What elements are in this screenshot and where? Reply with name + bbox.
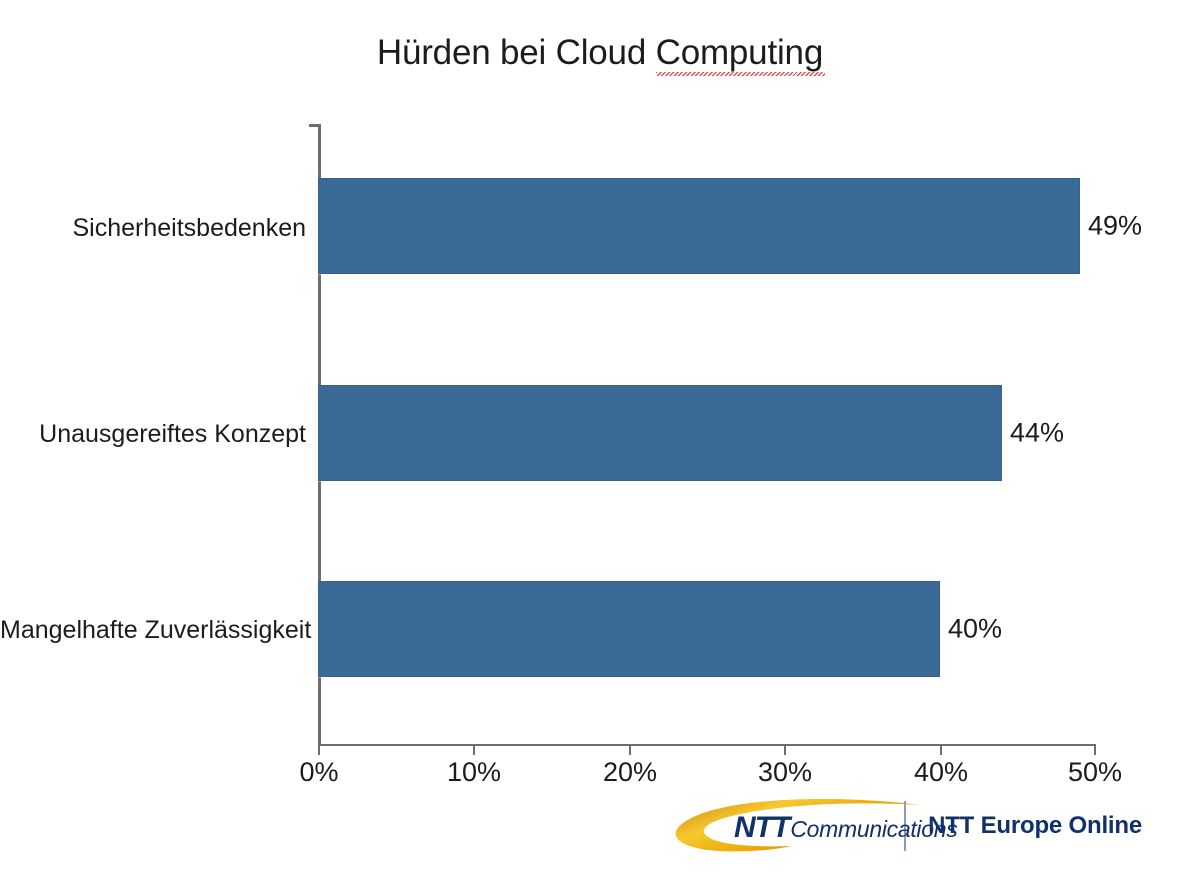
chart-title: Hürden bei Cloud Computing [0,33,1200,73]
x-axis-line [318,744,1096,746]
x-tick-50 [1094,746,1096,755]
category-label-mangelhafte-zuverlaessigkeit: Mangelhafte Zuverlässigkeit [0,616,306,645]
bar-unausgereiftes-konzept[interactable] [318,385,1002,481]
plot-area: 0% 10% 20% 30% 40% 50% 49% 44% 40% [318,124,1096,744]
x-tick-label-40: 40% [914,757,968,788]
x-tick-0 [318,746,320,755]
ntt-wordmark: NTT Communications [734,811,957,845]
footer: NTT Communications NTT Europe Online [672,795,1142,857]
x-tick-10 [473,746,475,755]
x-tick-20 [629,746,631,755]
bar-value-mangelhafte-zuverlaessigkeit: 40% [948,614,1002,645]
x-tick-label-30: 30% [758,757,812,788]
chart-title-misspelled-word: Computing [656,33,823,73]
bar-value-unausgereiftes-konzept: 44% [1010,418,1064,449]
brand-name: NTT Europe Online [928,812,1142,840]
ntt-communications-logo: NTT Communications [672,797,894,855]
chart-title-text: Hürden bei Cloud [377,33,656,72]
bar-sicherheitsbedenken[interactable] [318,178,1080,274]
category-label-sicherheitsbedenken: Sicherheitsbedenken [0,214,306,243]
x-tick-label-50: 50% [1068,757,1122,788]
y-axis-top-tick [309,124,318,127]
x-tick-label-0: 0% [299,757,338,788]
category-label-unausgereiftes-konzept: Unausgereiftes Konzept [0,420,306,449]
x-tick-30 [784,746,786,755]
bar-value-sicherheitsbedenken: 49% [1088,211,1142,242]
x-tick-label-20: 20% [603,757,657,788]
x-tick-40 [940,746,942,755]
ntt-communications-text: Communications [790,816,957,843]
x-tick-label-10: 10% [447,757,501,788]
ntt-logo-text: NTT [734,811,789,845]
bar-mangelhafte-zuverlaessigkeit[interactable] [318,581,940,677]
